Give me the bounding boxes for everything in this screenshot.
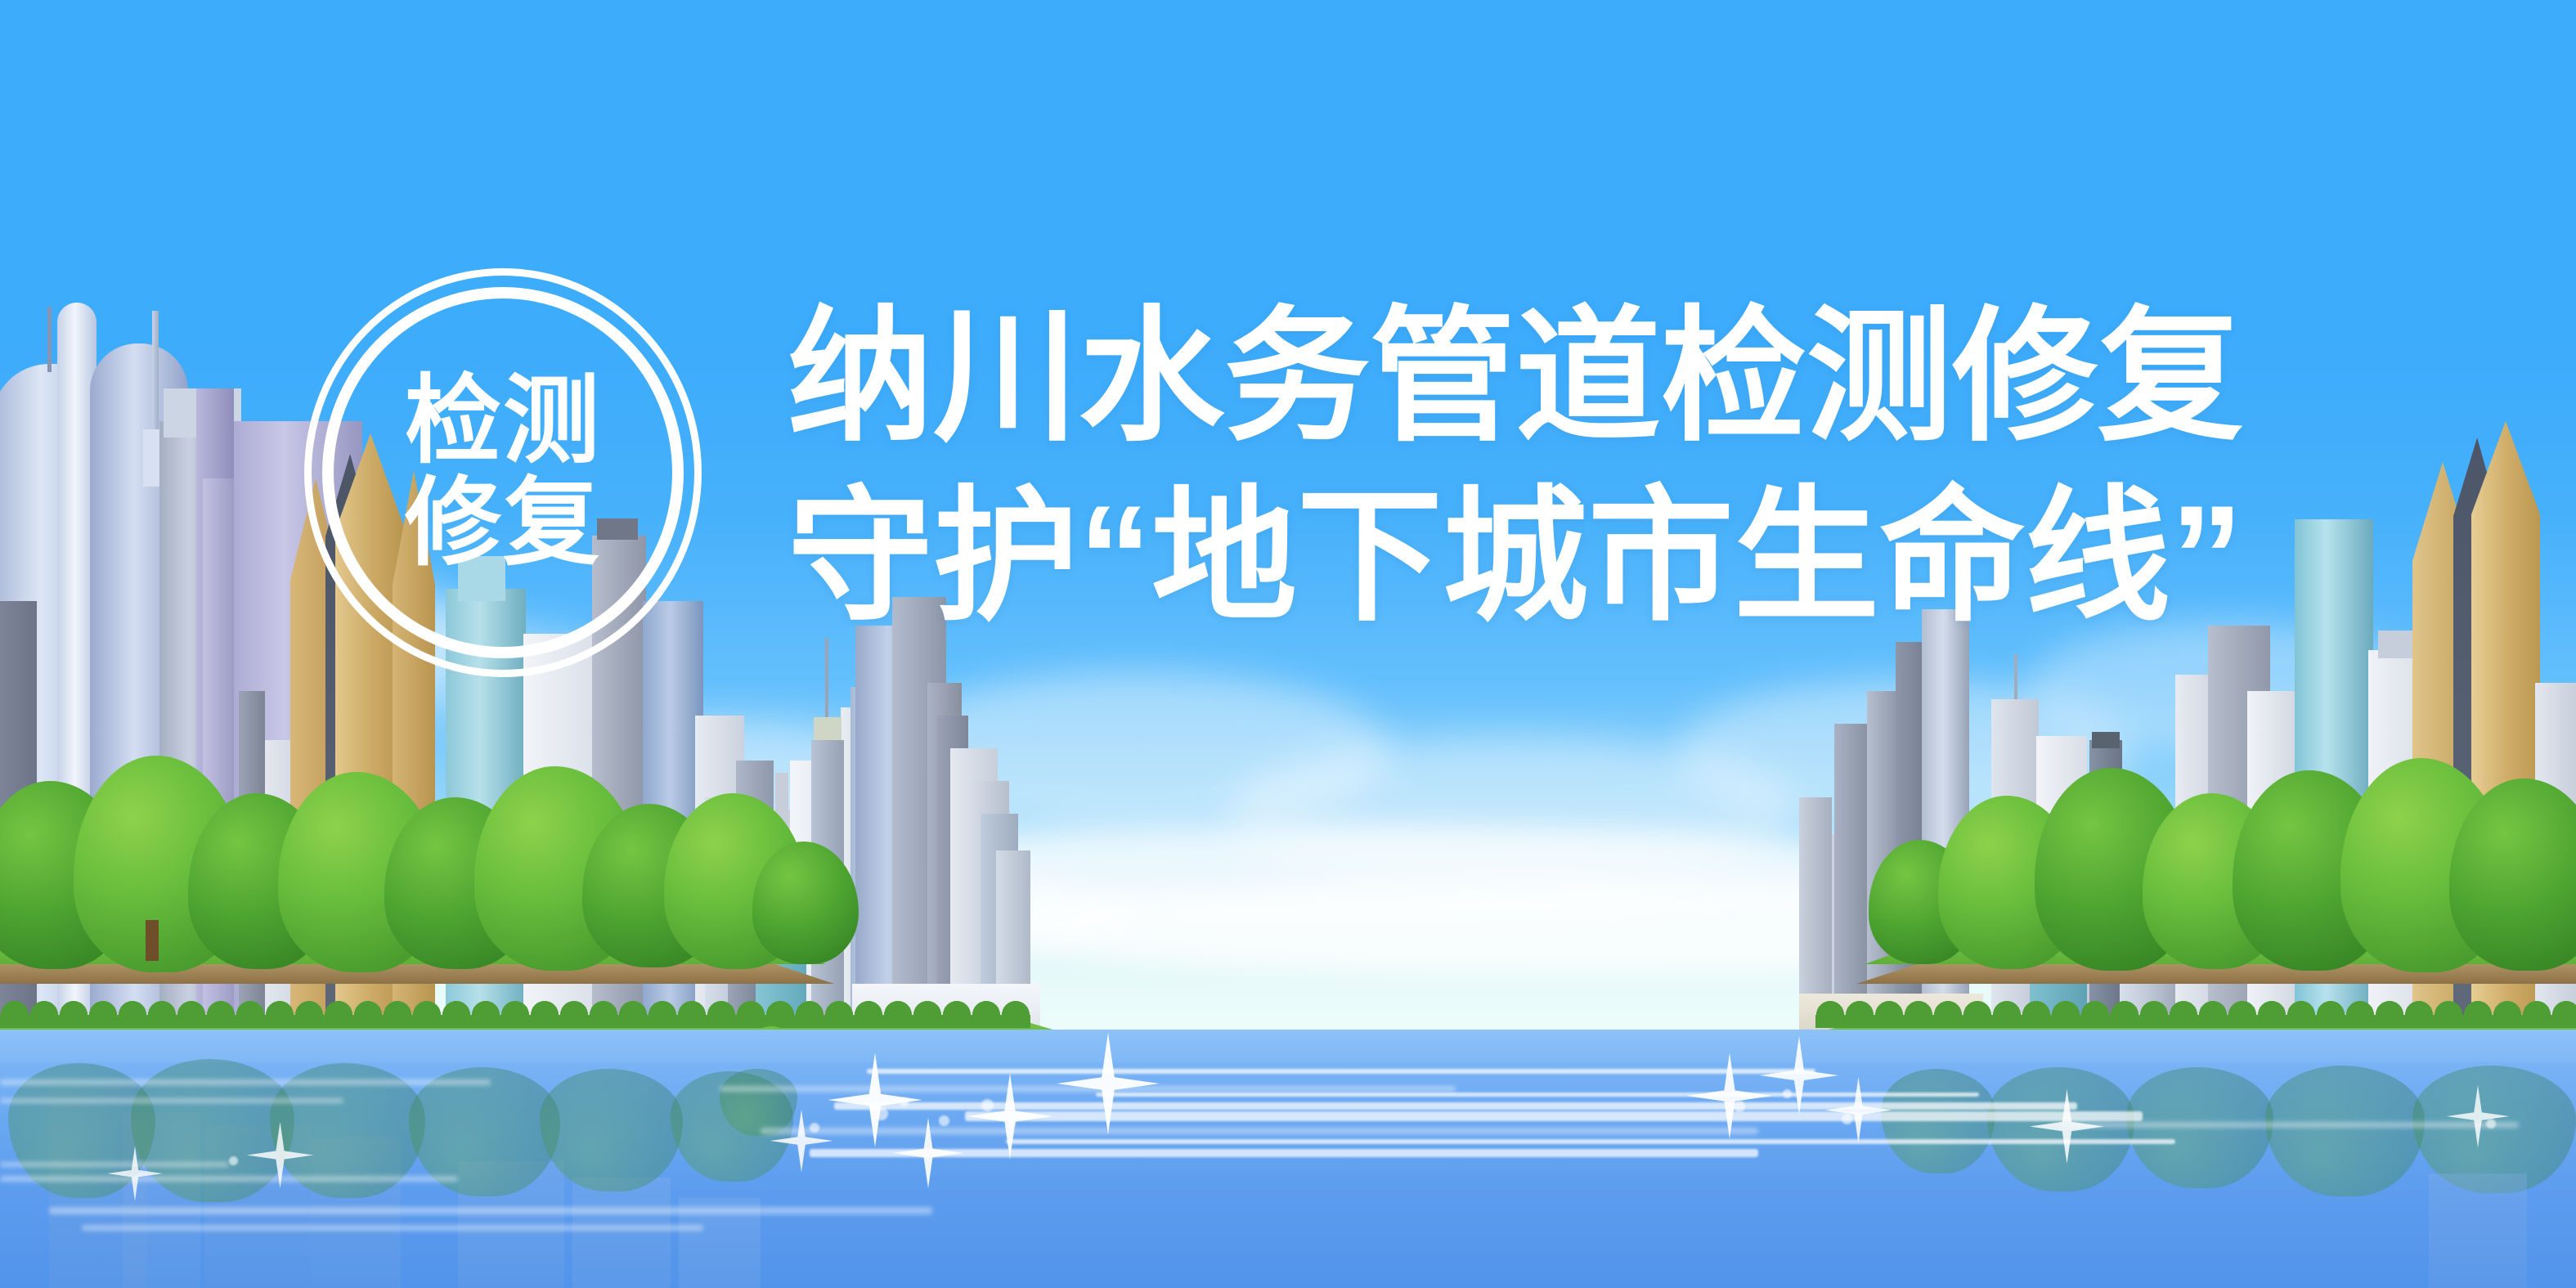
headline-line-2: 守护“地下城市生命线” — [788, 465, 2243, 648]
sparkle-icon — [2445, 1084, 2511, 1149]
building-antenna — [925, 777, 927, 863]
sparkle-icon — [965, 1071, 1055, 1161]
hedge-row-left — [0, 990, 1030, 1028]
reflection-tree — [1881, 1069, 1995, 1174]
reflection-building — [2429, 1174, 2527, 1288]
water-bokeh-dot — [900, 1097, 909, 1106]
building-rooftop-cap — [2092, 732, 2120, 748]
water-bokeh-dot — [939, 1115, 949, 1126]
sparkle-icon — [1824, 1075, 1893, 1145]
sparkle-icon — [245, 1120, 315, 1190]
water-streak — [0, 1079, 491, 1085]
sparkle-icon — [891, 1116, 965, 1190]
building-antenna — [47, 307, 52, 372]
detection-repair-badge: 检测 修复 — [304, 268, 702, 677]
water-bokeh-dot — [875, 1107, 888, 1120]
building-spire — [825, 638, 828, 724]
water-streak — [49, 1207, 932, 1214]
water-bokeh-dot — [1783, 1089, 1792, 1098]
banner-root: 检测 修复 纳川水务管道检测修复 守护“地下城市生命线” — [0, 0, 2576, 1288]
water-streak — [1006, 1139, 2175, 1144]
sparkle-icon — [769, 1108, 834, 1174]
badge-line-2: 修复 — [405, 473, 601, 575]
tree-trunk — [146, 920, 159, 961]
badge-line-1: 检测 — [405, 370, 601, 473]
reflection-building — [572, 1178, 671, 1288]
badge-text-block: 检测 修复 — [304, 268, 702, 677]
water-streak — [0, 1176, 458, 1182]
lake-water-nearshore — [0, 1030, 2576, 1062]
sparkle-icon — [2028, 1088, 2106, 1165]
headline-line-1: 纳川水务管道检测修复 — [788, 288, 2243, 465]
water-bokeh-dot — [810, 1123, 819, 1133]
water-bokeh-dot — [1842, 1114, 1852, 1124]
water-bokeh-dot — [1734, 1101, 1745, 1112]
water-bokeh-dot — [229, 1156, 238, 1165]
sparkle-icon — [1055, 1030, 1161, 1137]
water-streak — [0, 1098, 343, 1103]
water-streak — [82, 1225, 703, 1231]
sparkle-icon — [106, 1145, 164, 1202]
water-bokeh-dot — [2486, 1119, 2496, 1129]
water-bokeh-dot — [1008, 1120, 1016, 1128]
water-bokeh-dot — [981, 1099, 994, 1111]
hedge-row-right — [1815, 990, 2576, 1028]
headline-block: 纳川水务管道检测修复 守护“地下城市生命线” — [788, 288, 2243, 648]
